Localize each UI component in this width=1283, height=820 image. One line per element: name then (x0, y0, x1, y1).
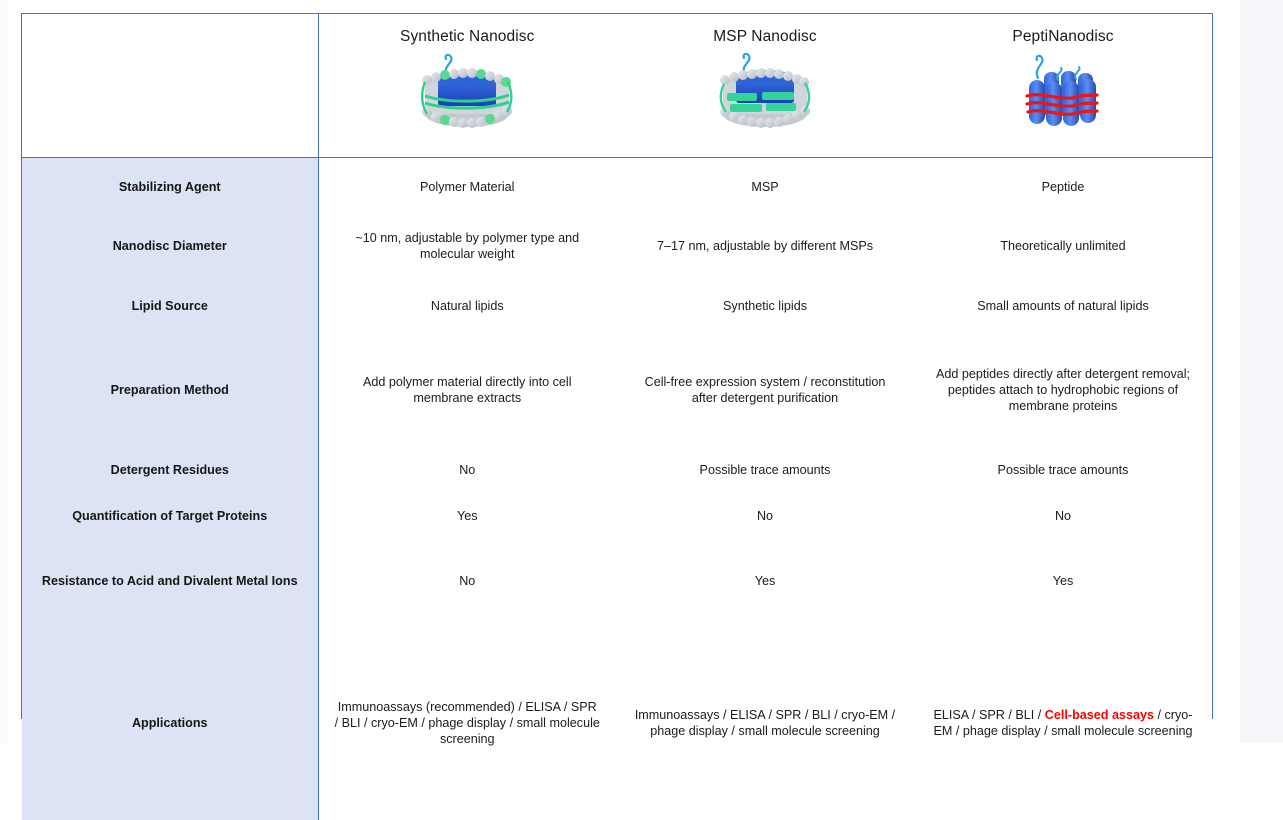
row-label-stabilizing-agent: Stabilizing Agent (22, 157, 318, 216)
cell-detergent-residues-pepti: Possible trace amounts (914, 444, 1212, 496)
cell-applications-msp: Immunoassays / ELISA / SPR / BLI / cryo-… (616, 626, 914, 820)
cell-nanodisc-diameter-synthetic: ~10 nm, adjustable by polymer type and m… (318, 216, 616, 276)
cell-lipid-source-msp: Synthetic lipids (616, 276, 914, 336)
row-label-resistance-to-acid-and-divalent-metal-ions: Resistance to Acid and Divalent Metal Io… (22, 536, 318, 626)
row-label-nanodisc-diameter: Nanodisc Diameter (22, 216, 318, 276)
cell-resistance-synthetic: No (318, 536, 616, 626)
table-row: Applications Immunoassays (recommended) … (22, 626, 1212, 820)
cell-nanodisc-diameter-pepti: Theoretically unlimited (914, 216, 1212, 276)
cell-stabilizing-agent-synthetic: Polymer Material (318, 157, 616, 216)
cell-quantification-pepti: No (914, 496, 1212, 536)
nanodisc-comparison-table: Synthetic Nanodisc (22, 14, 1212, 820)
msp-nanodisc-illustration (700, 52, 830, 138)
table-row: Stabilizing Agent Polymer Material MSP P… (22, 157, 1212, 216)
cell-preparation-method-synthetic: Add polymer material directly into cell … (318, 336, 616, 444)
row-label-preparation-method: Preparation Method (22, 336, 318, 444)
cell-nanodisc-diameter-msp: 7–17 nm, adjustable by different MSPs (616, 216, 914, 276)
cell-detergent-residues-msp: Possible trace amounts (616, 444, 914, 496)
table-row: Nanodisc Diameter ~10 nm, adjustable by … (22, 216, 1212, 276)
cell-preparation-method-msp: Cell-free expression system / reconstitu… (616, 336, 914, 444)
cell-preparation-method-pepti: Add peptides directly after detergent re… (914, 336, 1212, 444)
cell-resistance-pepti: Yes (914, 536, 1212, 626)
column-header-msp-nanodisc: MSP Nanodisc (616, 14, 914, 157)
row-label-applications: Applications (22, 626, 318, 820)
cell-resistance-msp: Yes (616, 536, 914, 626)
cell-lipid-source-pepti: Small amounts of natural lipids (914, 276, 1212, 336)
column-header-synthetic-nanodisc: Synthetic Nanodisc (318, 14, 616, 157)
cell-applications-pepti: ELISA / SPR / BLI / Cell-based assays / … (914, 626, 1212, 820)
cell-detergent-residues-synthetic: No (318, 444, 616, 496)
peptinanodisc-illustration (998, 52, 1128, 138)
cell-stabilizing-agent-msp: MSP (616, 157, 914, 216)
cell-stabilizing-agent-pepti: Peptide (914, 157, 1212, 216)
table-row: Quantification of Target Proteins Yes No… (22, 496, 1212, 536)
column-header-peptinanodisc: PeptiNanodisc (914, 14, 1212, 157)
column-title: PeptiNanodisc (915, 28, 1211, 46)
cell-lipid-source-synthetic: Natural lipids (318, 276, 616, 336)
table-header-row: Synthetic Nanodisc (22, 14, 1212, 157)
column-title: Synthetic Nanodisc (320, 28, 616, 46)
row-label-quantification-of-target-proteins: Quantification of Target Proteins (22, 496, 318, 536)
table-row: Resistance to Acid and Divalent Metal Io… (22, 536, 1212, 626)
column-title: MSP Nanodisc (617, 28, 913, 46)
table-row: Detergent Residues No Possible trace amo… (22, 444, 1212, 496)
nanodisc-comparison-table-container: Synthetic Nanodisc (21, 13, 1213, 719)
page-right-panel (1240, 0, 1283, 743)
table-row: Preparation Method Add polymer material … (22, 336, 1212, 444)
synthetic-nanodisc-illustration (402, 52, 532, 138)
cell-quantification-msp: No (616, 496, 914, 536)
row-label-lipid-source: Lipid Source (22, 276, 318, 336)
header-corner-cell (22, 14, 318, 157)
row-label-detergent-residues: Detergent Residues (22, 444, 318, 496)
table-row: Lipid Source Natural lipids Synthetic li… (22, 276, 1212, 336)
cell-applications-synthetic: Immunoassays (recommended) / ELISA / SPR… (318, 626, 616, 820)
page-left-margin-strip (0, 0, 8, 743)
highlighted-application-text: Cell-based assays (1045, 708, 1154, 722)
cell-quantification-synthetic: Yes (318, 496, 616, 536)
